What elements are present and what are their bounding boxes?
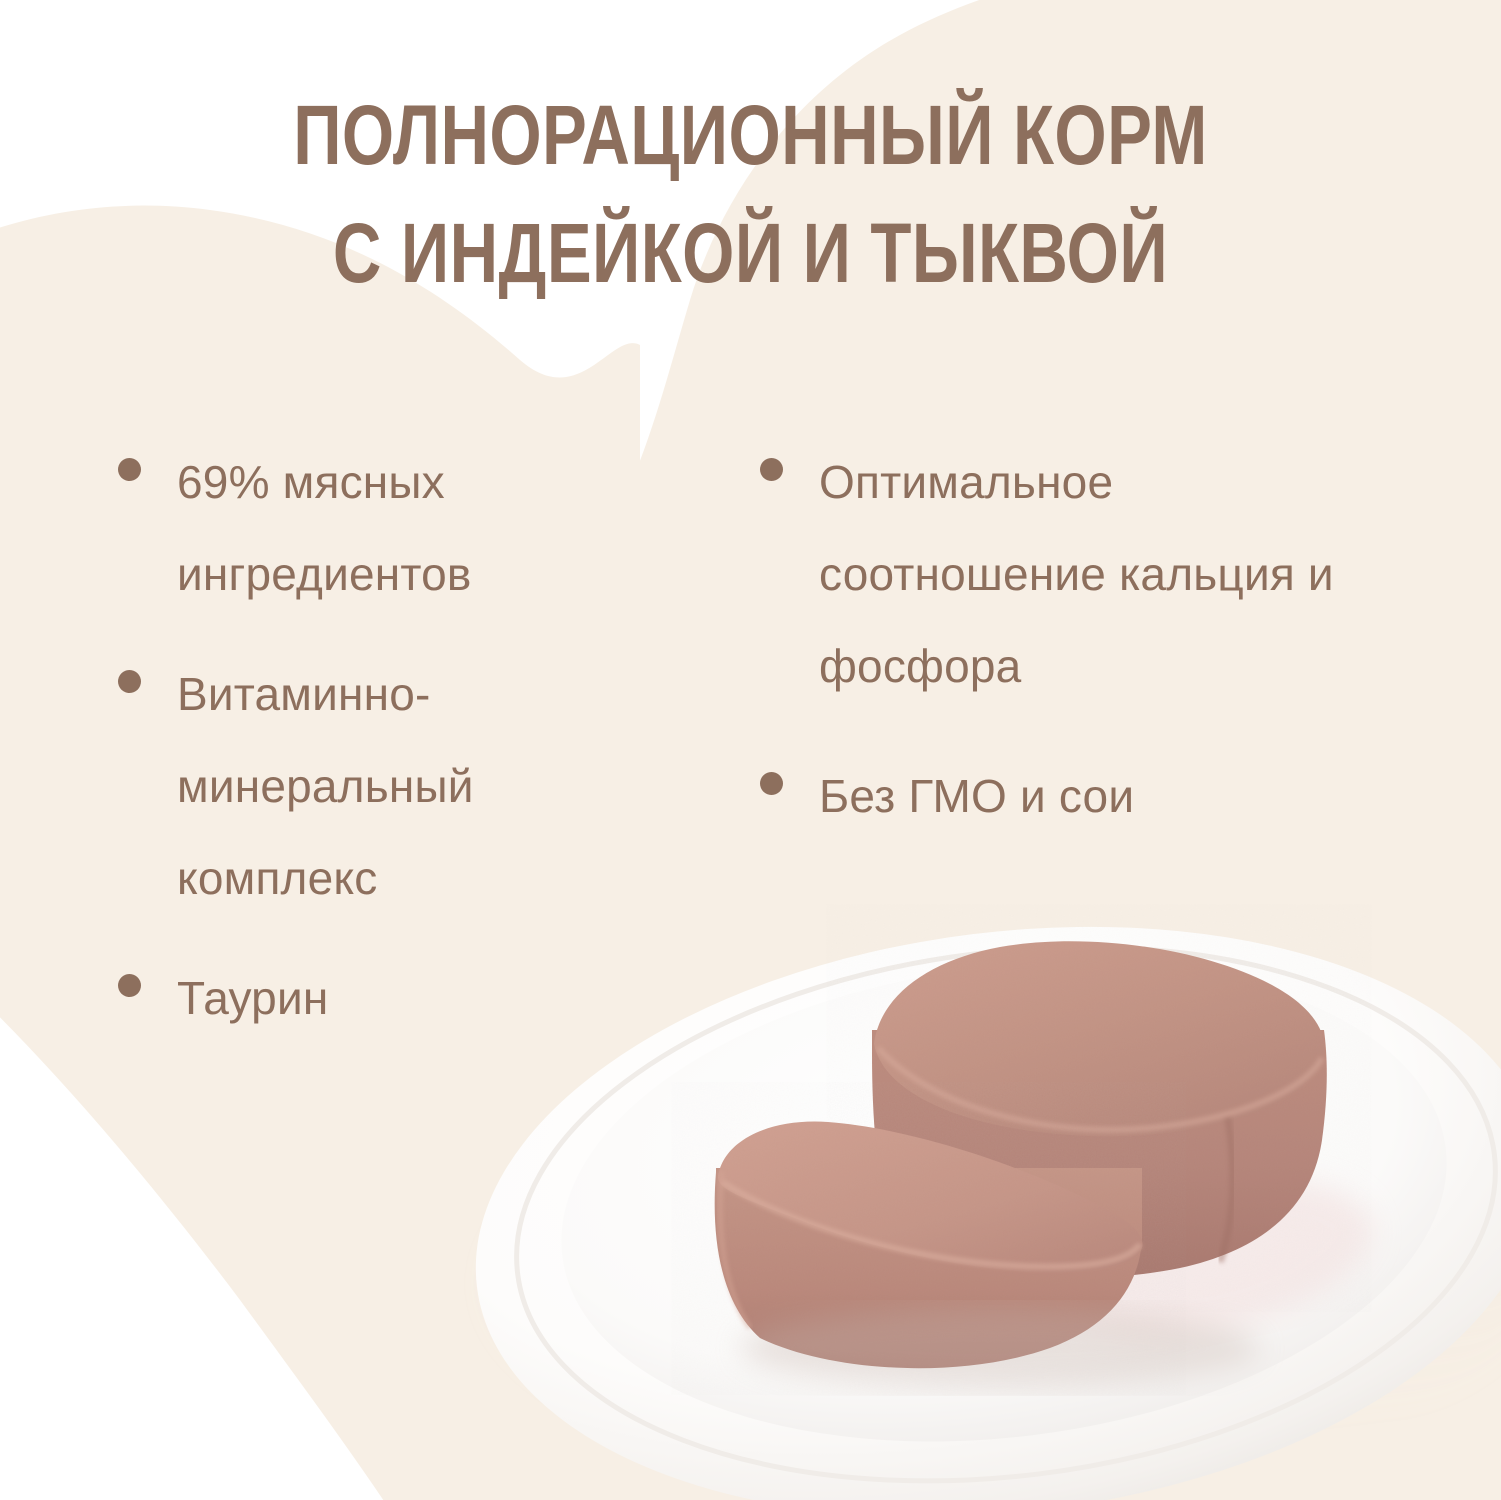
bullet-dot-icon <box>118 670 141 693</box>
list-item: Таурин <box>118 952 678 1044</box>
feature-label: Витаминно-минеральный комплекс <box>177 648 678 924</box>
feature-label: 69% мясных ингредиентов <box>177 436 678 620</box>
bullet-dot-icon <box>760 458 783 481</box>
bullet-dot-icon <box>760 772 783 795</box>
feature-list-right: Оптимальное соотношение кальция и фосфор… <box>760 436 1380 878</box>
bullet-dot-icon <box>118 458 141 481</box>
list-item: Витаминно-минеральный комплекс <box>118 648 678 924</box>
feature-label: Без ГМО и сои <box>819 750 1134 842</box>
feature-list-left: 69% мясных ингредиентов Витаминно-минера… <box>118 436 678 1080</box>
feature-label: Оптимальное соотношение кальция и фосфор… <box>819 436 1380 712</box>
list-item: Без ГМО и сои <box>760 750 1380 842</box>
product-feature-banner: ПОЛНОРАЦИОННЫЙ КОРМ С ИНДЕЙКОЙ И ТЫКВОЙ … <box>0 0 1501 1500</box>
feature-label: Таурин <box>177 952 328 1044</box>
food-contact-shadow <box>740 1308 1260 1388</box>
list-item: 69% мясных ингредиентов <box>118 436 678 620</box>
list-item: Оптимальное соотношение кальция и фосфор… <box>760 436 1380 712</box>
bullet-dot-icon <box>118 974 141 997</box>
